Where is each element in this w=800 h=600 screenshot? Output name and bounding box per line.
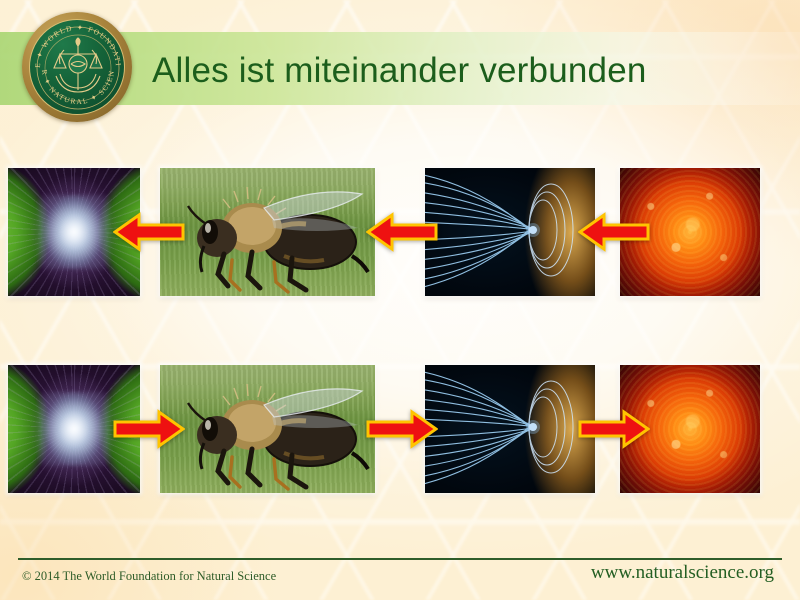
footer-divider (18, 558, 782, 560)
top-row-magnetosphere-photo (425, 168, 595, 296)
top-row-honeybee-photo (160, 168, 375, 296)
energy-glow (39, 195, 109, 269)
copyright-notice: © 2014 The World Foundation for Natural … (22, 569, 276, 584)
honeybee-illustration (160, 365, 375, 493)
slide: Alles ist miteinander verbunden THE ✦ WO… (0, 0, 800, 600)
arrow-magnetosphere-to-bee (366, 212, 438, 252)
foundation-logo: THE ✦ WORLD ✦ FOUNDATION FOR ✦ NATURAL ✦… (22, 12, 132, 122)
logo-seal-inner: THE ✦ WORLD ✦ FOUNDATION FOR ✦ NATURAL ✦… (29, 19, 125, 115)
arrow-cells-to-bee (113, 409, 185, 449)
magnetic-field-lines (425, 168, 595, 296)
bottom-row-magnetosphere-photo (425, 365, 595, 493)
bottom-row-honeybee-photo (160, 365, 375, 493)
arrow-bee-to-magnetosphere (366, 409, 438, 449)
arrow-sun-to-magnetosphere (578, 212, 650, 252)
energy-glow (39, 392, 109, 466)
arrow-bee-to-cells (113, 212, 185, 252)
website-url[interactable]: www.naturalscience.org (591, 562, 774, 584)
page-title: Alles ist miteinander verbunden (152, 44, 772, 98)
arrow-magnetosphere-to-sun (578, 409, 650, 449)
magnetic-field-lines (425, 365, 595, 493)
honeybee-illustration (160, 168, 375, 296)
